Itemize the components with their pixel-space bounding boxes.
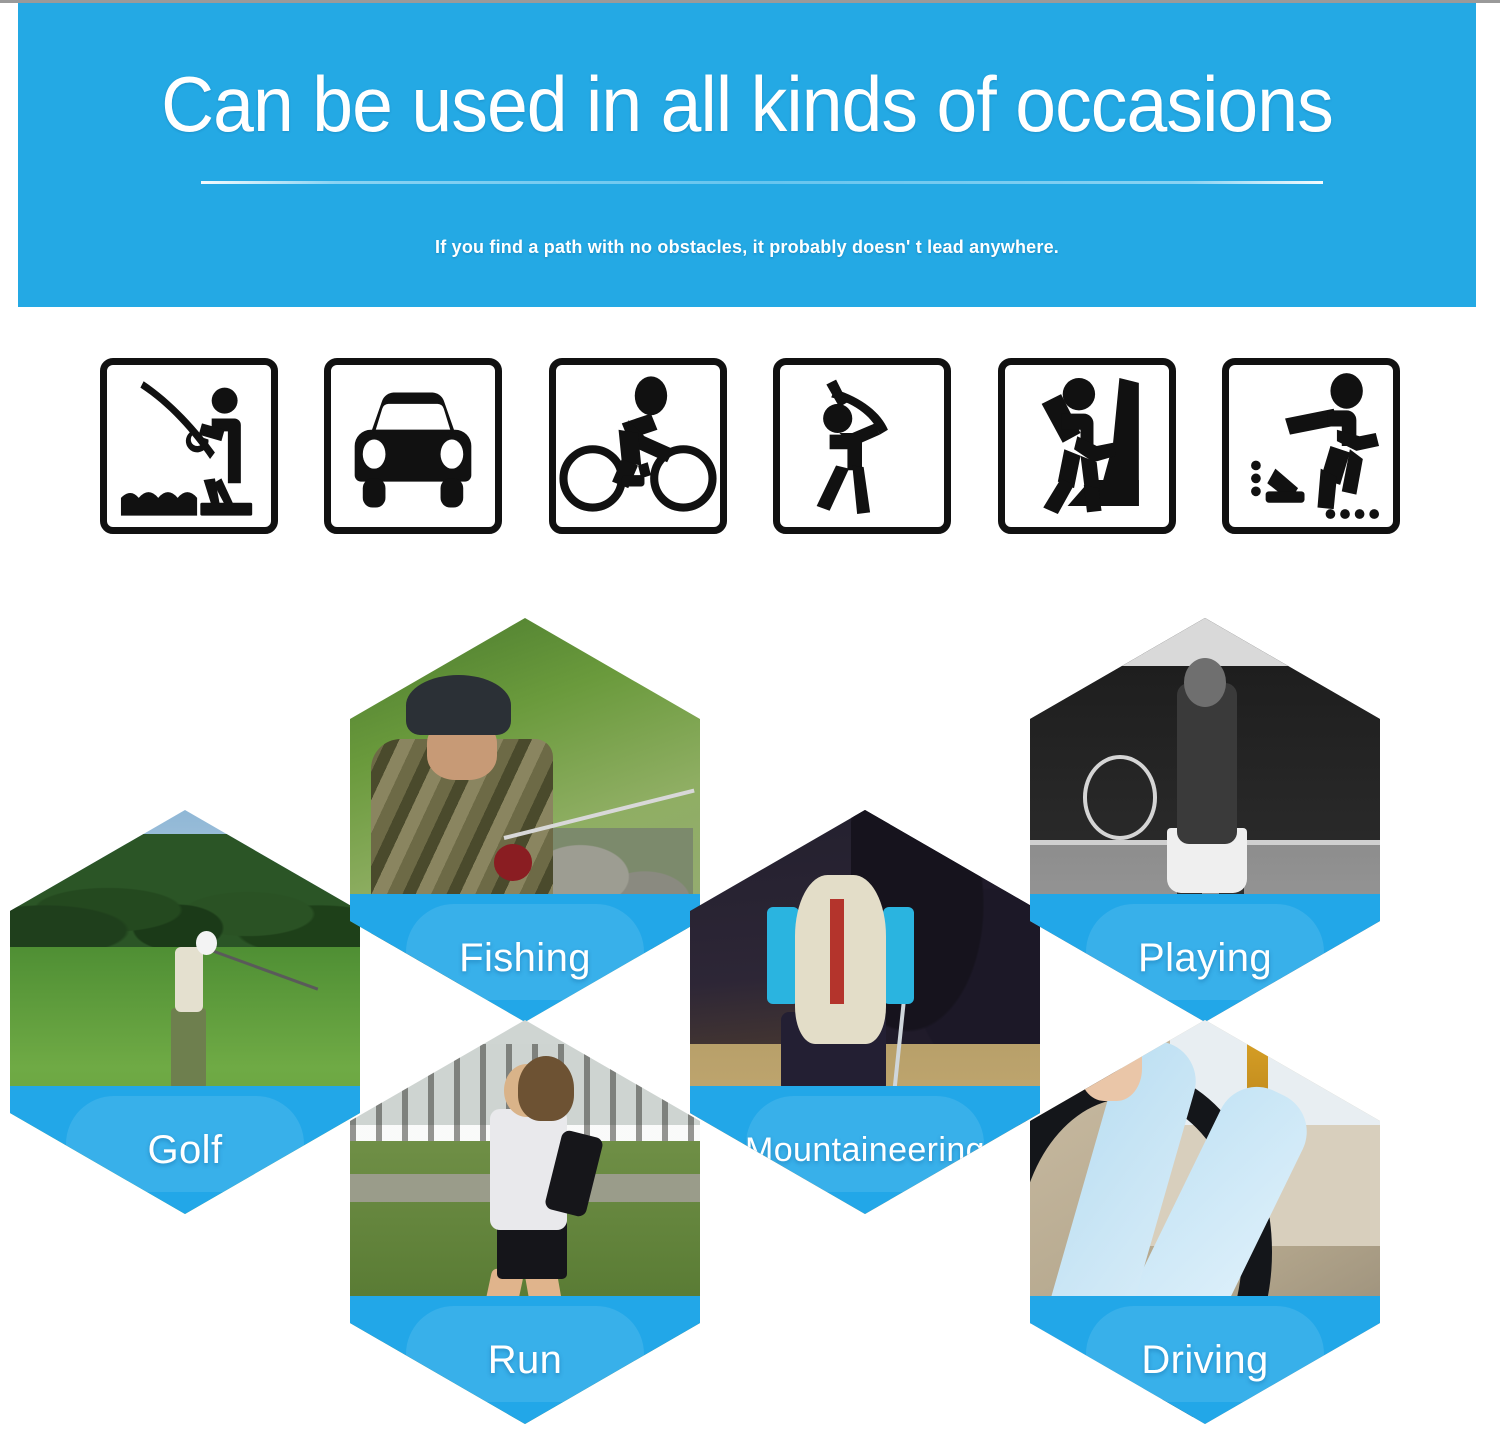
hex-label-band: Playing: [1030, 894, 1380, 1022]
hex-card-playing[interactable]: Playing: [1030, 618, 1380, 1022]
fishing-icon: [100, 358, 278, 534]
hex-card-golf[interactable]: Golf: [10, 810, 360, 1214]
hex-label-playing: Playing: [1138, 936, 1272, 981]
hex-card-driving[interactable]: Driving: [1030, 1020, 1380, 1424]
hex-label-band: Run: [350, 1296, 700, 1424]
golf-icon: [773, 358, 951, 534]
rollerblading-icon: [1222, 358, 1400, 534]
hex-label-mountaineering: Mountaineering: [745, 1131, 985, 1170]
infographic-page: Can be used in all kinds of occasions If…: [0, 0, 1500, 1453]
car-driving-icon: [324, 358, 502, 534]
hex-label-golf: Golf: [148, 1128, 223, 1173]
hex-label-band: Driving: [1030, 1296, 1380, 1424]
hex-label-run: Run: [488, 1338, 563, 1383]
climbing-icon: [998, 358, 1176, 534]
page-subtitle: If you find a path with no obstacles, it…: [18, 237, 1476, 258]
activity-icon-strip: [100, 358, 1400, 534]
hex-card-run[interactable]: Run: [350, 1020, 700, 1424]
hex-label-band: Golf: [10, 1086, 360, 1214]
title-underline: [201, 181, 1323, 184]
header-banner: Can be used in all kinds of occasions If…: [18, 3, 1476, 307]
hex-card-fishing[interactable]: Fishing: [350, 618, 700, 1022]
cycling-icon: [549, 358, 727, 534]
hex-label-band: Fishing: [350, 894, 700, 1022]
hex-label-fishing: Fishing: [459, 936, 591, 981]
hex-label-driving: Driving: [1141, 1338, 1268, 1383]
hex-card-mountaineering[interactable]: Mountaineering: [690, 810, 1040, 1214]
hex-label-band: Mountaineering: [690, 1086, 1040, 1214]
page-title: Can be used in all kinds of occasions: [62, 65, 1433, 143]
occasion-hexagon-grid: Golf Fishing: [0, 565, 1500, 1453]
